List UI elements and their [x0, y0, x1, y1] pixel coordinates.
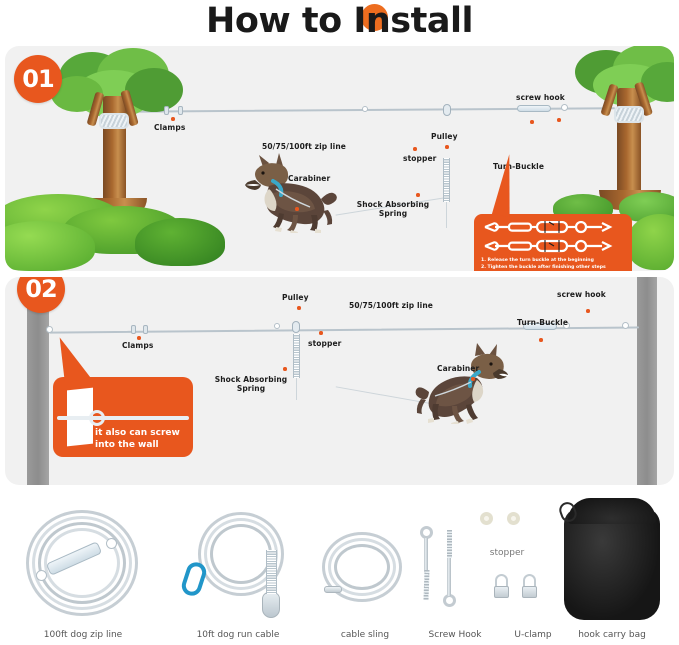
spring-product [266, 550, 277, 594]
hook-eye-icon [36, 570, 47, 581]
turnbuckle-marker-dot [530, 120, 534, 124]
stopper-marker-dot [319, 331, 323, 335]
screw-hook-marker-dot [557, 118, 561, 122]
cable-ferrule-icon [324, 586, 342, 593]
stopper-ring-icon [507, 512, 520, 525]
product-label: stopper [452, 548, 562, 558]
stopper-marker-dot [413, 147, 417, 151]
stopper-ring-icon [480, 512, 493, 525]
label-turn-buckle: Turn-Buckle [517, 318, 568, 327]
screw-hook-ring-icon [561, 104, 568, 111]
turnbuckle-diagram [481, 221, 625, 254]
rope-wrap-left-tree [99, 113, 129, 129]
dog-illustration [243, 153, 338, 233]
callout-instruction-text: 1. Release the turn buckle at the beginn… [481, 257, 625, 271]
product-item: stopper [452, 502, 562, 562]
hook-eye-icon [106, 538, 117, 549]
turnbuckle-marker-dot [539, 338, 543, 342]
screw-hook-thread [447, 530, 452, 558]
wall-mount-callout: it also can screw into the wall [53, 377, 193, 457]
swivel-clip-icon [262, 592, 280, 618]
label-pulley: Pulley [282, 293, 309, 302]
page-header: How to Install [0, 0, 679, 42]
turnbuckle-instruction-callout: 1. Release the turn buckle at the beginn… [474, 214, 632, 271]
dog-svg [243, 153, 338, 233]
dog-illustration [415, 342, 511, 424]
spring-marker-dot [283, 367, 287, 371]
cable-coil [334, 544, 390, 590]
screw-hook-marker-dot [586, 309, 590, 313]
u-clamp-body-icon [494, 586, 509, 598]
carry-bag-drawstring-top [568, 498, 656, 524]
step-badge-01: 01 [14, 55, 62, 103]
u-clamp-body-icon [522, 586, 537, 598]
dog-svg [415, 342, 511, 424]
clamps-marker-dot [137, 336, 141, 340]
label-shock-absorbing-spring: Shock Absorbing Spring [213, 375, 289, 394]
clamps-marker-dot [171, 117, 175, 121]
product-item: 10ft dog run cable [162, 500, 314, 640]
label-screw-hook: screw hook [516, 93, 565, 102]
label-stopper: stopper [308, 339, 341, 348]
wall-pillar-right [637, 277, 657, 485]
screw-hook-shaft [447, 556, 451, 596]
clamp-icon [131, 325, 136, 334]
label-clamps: Clamps [122, 341, 153, 350]
clamp-icon [164, 106, 169, 115]
carabiner-product [179, 560, 209, 599]
leash-cable [296, 378, 297, 400]
install-step-panel-01: 01 Clamps 50/75/100ft zip line [5, 46, 674, 271]
spring-label-line1: Shock Absorbing [357, 200, 430, 209]
callout-tail [54, 333, 90, 384]
label-carabiner: Carabiner [288, 174, 330, 183]
carabiner-marker-dot [471, 377, 475, 381]
screw-hook-shaft [424, 538, 428, 572]
bush-decoration [627, 214, 674, 270]
pulley-marker-dot [297, 306, 301, 310]
leash-cable [446, 202, 447, 228]
carabiner-marker-dot [295, 207, 299, 211]
cable-coil [210, 524, 272, 584]
spring-label-line2: Spring [237, 384, 265, 393]
product-label: 10ft dog run cable [162, 630, 314, 640]
rope-wrap-right-tree [614, 106, 644, 123]
clamp-icon [178, 106, 183, 115]
wall-anchor-ring-icon [46, 326, 53, 333]
product-item: hook carry bag [552, 496, 672, 640]
wall-text-line1: it also can screw [95, 428, 180, 438]
label-zip-line: 50/75/100ft zip line [262, 142, 346, 151]
label-zip-line: 50/75/100ft zip line [349, 301, 433, 310]
product-contents-row: 100ft dog zip line 10ft dog run cable ca… [0, 492, 679, 645]
wall-callout-text: it also can screw into the wall [95, 427, 180, 451]
stopper-icon [274, 323, 280, 329]
label-screw-hook: screw hook [557, 290, 606, 299]
stopper-icon [362, 106, 368, 112]
product-item: 100ft dog zip line [8, 500, 158, 640]
carry-bag-body [564, 508, 660, 620]
shock-absorbing-spring-icon [443, 158, 450, 202]
label-shock-absorbing-spring: Shock Absorbing Spring [356, 200, 430, 219]
wall-ring-icon [89, 410, 105, 426]
pulley-icon [443, 104, 451, 116]
instruction-line-1: 1. Release the turn buckle at the beginn… [481, 257, 625, 264]
product-label: 100ft dog zip line [8, 630, 158, 640]
screw-hook-thread [423, 570, 429, 600]
turnbuckle-diagram-svg [481, 221, 625, 254]
label-carabiner: Carabiner [437, 364, 479, 373]
spring-label-line1: Shock Absorbing [215, 375, 288, 384]
label-pulley: Pulley [431, 132, 458, 141]
spring-label-line2: Spring [379, 209, 407, 218]
step-badge-02: 02 [17, 277, 65, 313]
install-step-panel-02: 02 Clamps Pulley stopper 50/75/100ft zip… [5, 277, 674, 485]
label-stopper: stopper [403, 154, 436, 163]
wall-text-line2: into the wall [95, 440, 159, 450]
wall-screw-illustration [57, 416, 189, 420]
wall-eye-ring-icon [622, 322, 629, 329]
page-title: How to Install [206, 1, 473, 41]
clamp-icon [143, 325, 148, 334]
bush-decoration [135, 218, 225, 266]
label-clamps: Clamps [154, 123, 185, 132]
turn-buckle-icon [517, 105, 551, 112]
pulley-icon [292, 321, 300, 333]
spring-marker-dot [416, 193, 420, 197]
instruction-line-2: 2. Tighten the buckle after finishing ot… [481, 264, 625, 271]
product-label: hook carry bag [552, 630, 672, 640]
shock-absorbing-spring-icon [293, 334, 300, 378]
pulley-marker-dot [445, 145, 449, 149]
